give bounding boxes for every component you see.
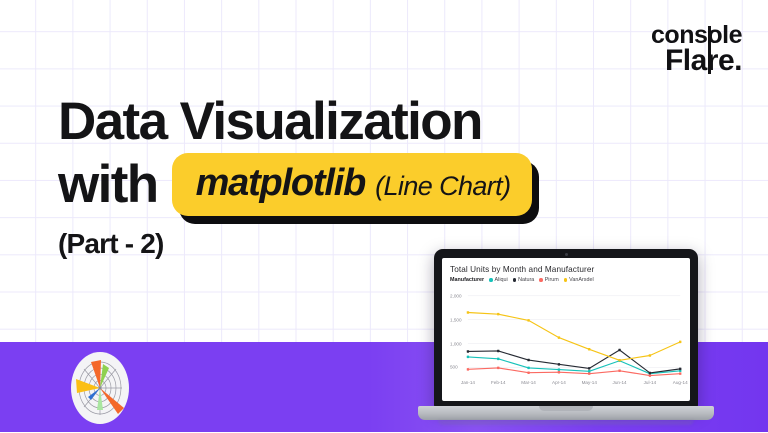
y-axis-tick-label: 1,000 <box>450 341 465 346</box>
x-axis-tick-label: Mar-14 <box>521 380 536 385</box>
x-axis-tick-label: Jan-14 <box>461 380 475 385</box>
headline-line-2: with matplotlib (Line Chart) <box>58 153 532 216</box>
matplotlib-pill-wrapper: matplotlib (Line Chart) <box>172 153 533 216</box>
polar-chart-icon <box>62 348 138 428</box>
chart-legend: Manufacturer AliquiNaturaPirumVanArsdel <box>450 277 684 283</box>
legend-swatch-icon <box>564 278 568 282</box>
chart-svg <box>450 287 684 391</box>
legend-swatch-icon <box>513 278 517 282</box>
logo-text-flare: Flare. <box>651 47 742 75</box>
x-axis-tick-label: Feb-14 <box>491 380 506 385</box>
headline-block: Data Visualization with matplotlib (Line… <box>58 95 532 216</box>
legend-swatch-icon <box>539 278 543 282</box>
part-label: (Part - 2) <box>58 228 164 260</box>
legend-item-aliqui[interactable]: Aliqui <box>489 277 508 283</box>
x-axis-tick-label: Jun-14 <box>613 380 627 385</box>
legend-label: Aliqui <box>495 277 508 283</box>
y-axis-tick-label: 500 <box>450 365 465 370</box>
y-axis-tick-label: 2,000 <box>450 293 465 298</box>
y-axis-tick-label: 1,500 <box>450 317 465 322</box>
laptop-base-notch <box>539 406 593 411</box>
laptop-lid: Total Units by Month and Manufacturer Ma… <box>434 249 698 409</box>
matplotlib-pill: matplotlib (Line Chart) <box>172 153 533 216</box>
matplotlib-label: matplotlib <box>196 162 366 205</box>
legend-swatch-icon <box>489 278 493 282</box>
chart-plot-area: 2,0001,5001,000500 Jan-14Feb-14Mar-14Apr… <box>450 287 684 391</box>
headline-with-text: with <box>58 158 158 212</box>
x-axis-tick-label: Apr-14 <box>552 380 566 385</box>
x-axis-tick-label: Jul-14 <box>644 380 657 385</box>
legend-item-pirum[interactable]: Pirum <box>539 277 558 283</box>
laptop-screen: Total Units by Month and Manufacturer Ma… <box>442 258 690 401</box>
laptop-shadow <box>438 420 694 425</box>
headline-line-1: Data Visualization <box>58 95 532 149</box>
webcam-icon <box>565 253 568 256</box>
x-axis-tick-label: Aug-14 <box>673 380 688 385</box>
legend-item-natura[interactable]: Natura <box>513 277 535 283</box>
legend-label: Pirum <box>545 277 559 283</box>
legend-caption: Manufacturer <box>450 277 484 283</box>
x-axis-tick-label: May-14 <box>582 380 597 385</box>
legend-label: Natura <box>518 277 534 283</box>
legend-item-vanarsdel[interactable]: VanArsdel <box>564 277 594 283</box>
line-chart-label: (Line Chart) <box>375 171 510 202</box>
chart-title: Total Units by Month and Manufacturer <box>450 265 684 274</box>
legend-label: VanArsdel <box>569 277 593 283</box>
laptop-mockup: Total Units by Month and Manufacturer Ma… <box>418 249 714 432</box>
legend-items: AliquiNaturaPirumVanArsdel <box>489 277 594 283</box>
brand-logo: console Flare. <box>651 24 742 75</box>
